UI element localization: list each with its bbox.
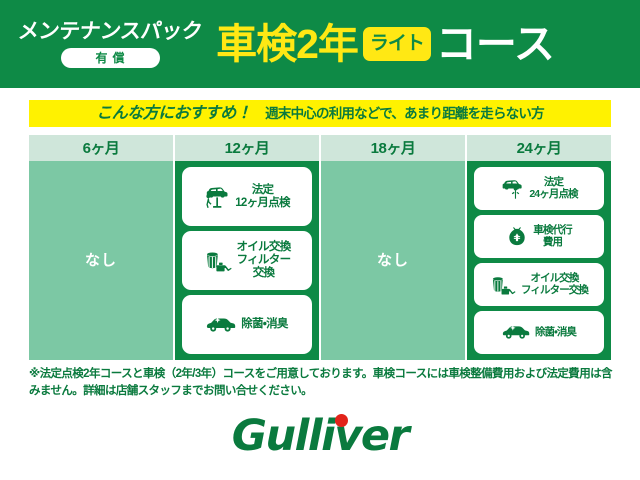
table-column-12months: 12ヶ月 法定 12ヶ月点検 xyxy=(175,135,319,360)
column-header-6months: 6ヶ月 xyxy=(29,135,173,161)
service-card-legal-inspection-12: 法定 12ヶ月点検 xyxy=(182,167,312,226)
table-column-6months: 6ヶ月 なし xyxy=(29,135,173,360)
service-label-legal-inspection-24: 法定 24ヶ月点検 xyxy=(529,177,577,201)
column-body-24months: 法定 24ヶ月点検 車検代行 費用 xyxy=(467,161,611,360)
column-header-24months: 24ヶ月 xyxy=(467,135,611,161)
table-column-18months: 18ヶ月 なし xyxy=(321,135,465,360)
none-label-18months: なし xyxy=(377,253,409,268)
course-title-block: 車検2年 ライト コース xyxy=(216,24,630,65)
car-lift-inspection-icon xyxy=(204,185,230,209)
service-label-oil-change-24: オイル交換 フィルター交換 xyxy=(521,273,588,297)
column-header-12months: 12ヶ月 xyxy=(175,135,319,161)
paid-badge: 有償 xyxy=(61,48,160,68)
car-lift-inspection-icon xyxy=(500,178,524,200)
service-label-legal-inspection-12: 法定 12ヶ月点検 xyxy=(235,184,290,210)
car-sanitize-icon xyxy=(206,316,236,334)
column-body-6months: なし xyxy=(29,161,173,360)
none-label-6months: なし xyxy=(85,253,117,268)
recommendation-banner: こんな方におすすめ！ 週末中心の利用などで、あまり距離を走らない方 xyxy=(29,100,611,127)
maintenance-pack-block: メンテナンスパック 有償 xyxy=(18,21,202,68)
recommendation-heading: こんな方におすすめ！ xyxy=(96,106,251,122)
column-body-12months: 法定 12ヶ月点検 オイル交換 フィ xyxy=(175,161,319,360)
service-card-oil-change-12: オイル交換 フィルター 交換 xyxy=(182,231,312,290)
service-card-sanitize-12: 除菌・消臭 xyxy=(182,295,312,354)
brand-logo-text: Gulliver xyxy=(232,415,409,458)
brand-logo: Gulliver xyxy=(0,408,640,464)
maintenance-schedule-table: 6ヶ月 なし 12ヶ月 xyxy=(29,135,611,360)
service-card-legal-inspection-24: 法定 24ヶ月点検 xyxy=(474,167,604,210)
service-card-oil-change-24: オイル交換 フィルター交換 xyxy=(474,263,604,306)
course-light-badge: ライト xyxy=(363,27,431,61)
course-suffix-title: コース xyxy=(436,24,554,65)
course-main-title: 車検2年 xyxy=(216,24,358,65)
recommendation-description: 週末中心の利用などで、あまり距離を走らない方 xyxy=(265,107,544,121)
service-card-sanitize-24: 除菌・消臭 xyxy=(474,311,604,354)
column-header-18months: 18ヶ月 xyxy=(321,135,465,161)
column-body-18months: なし xyxy=(321,161,465,360)
service-card-inspection-agency-fee-24: 車検代行 費用 xyxy=(474,215,604,258)
service-label-sanitize-12: 除菌・消臭 xyxy=(241,318,287,331)
oil-can-filter-icon xyxy=(204,249,232,273)
service-label-inspection-agency-fee-24: 車検代行 費用 xyxy=(533,225,571,249)
maintenance-pack-title: メンテナンスパック xyxy=(17,21,203,42)
header-band: メンテナンスパック 有償 車検2年 ライト コース xyxy=(0,0,640,88)
footnote-text: ※法定点検2年コースと車検（2年/3年）コースをご用意しております。車検コースに… xyxy=(29,366,614,399)
service-label-sanitize-24: 除菌・消臭 xyxy=(535,327,576,339)
maintenance-pack-poster: メンテナンスパック 有償 車検2年 ライト コース こんな方におすすめ！ 週末中… xyxy=(0,0,640,480)
oil-can-filter-icon xyxy=(490,274,516,296)
service-label-oil-change-12: オイル交換 フィルター 交換 xyxy=(237,241,291,280)
table-column-24months: 24ヶ月 法定 24ヶ月点検 xyxy=(467,135,611,360)
money-bag-yen-icon xyxy=(506,226,528,248)
car-sanitize-icon xyxy=(502,324,530,341)
